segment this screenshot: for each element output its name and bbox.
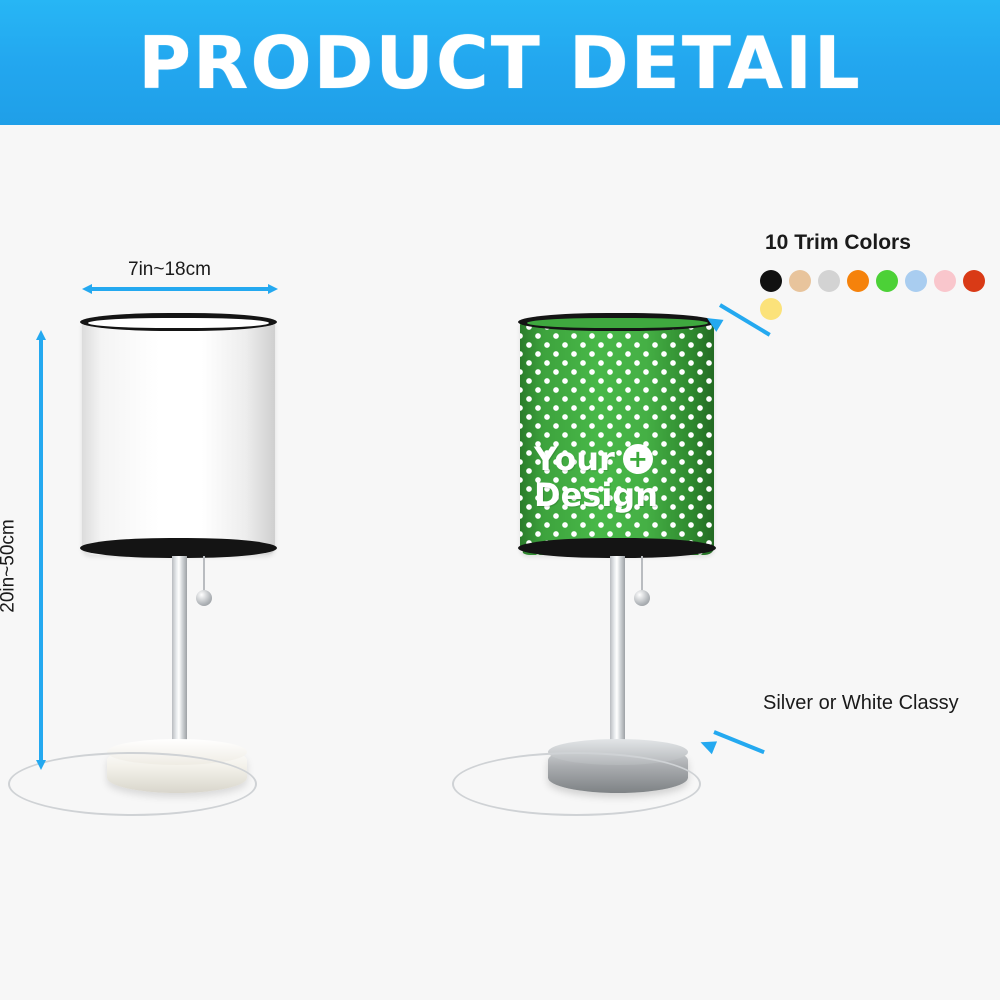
design-text-line1: Your xyxy=(534,443,615,475)
design-text-line2: Design xyxy=(534,479,704,511)
design-text-block: Your + Design xyxy=(534,443,704,511)
lamp-shade-white xyxy=(82,318,275,555)
lamp-shade-green: Your + Design xyxy=(520,318,714,555)
trim-swatch-light-gray[interactable] xyxy=(818,270,840,292)
trim-swatch-green[interactable] xyxy=(876,270,898,292)
pull-chain-bead xyxy=(196,590,212,606)
lamp-shade-bottom-trim xyxy=(518,538,716,558)
base-material-label: Silver or White Classy xyxy=(763,692,959,715)
trim-swatch-orange[interactable] xyxy=(847,270,869,292)
trim-color-swatches xyxy=(760,270,1000,320)
width-label: 7in~18cm xyxy=(128,259,211,281)
lamp-shade-top-inner xyxy=(527,318,708,328)
design-plus-badge: + xyxy=(623,444,653,474)
pull-chain-bead xyxy=(634,590,650,606)
trim-swatch-light-blue[interactable] xyxy=(905,270,927,292)
green-design-lamp: Your + Design xyxy=(500,0,1000,1000)
lamp-pole xyxy=(610,556,625,756)
base-callout-arrow xyxy=(700,726,760,758)
lamp-shade-top-inner xyxy=(88,318,269,328)
trim-colors-arrow xyxy=(706,297,766,331)
pull-chain-cord xyxy=(203,556,205,594)
trim-swatch-tan[interactable] xyxy=(789,270,811,292)
trim-swatch-pink[interactable] xyxy=(934,270,956,292)
trim-swatch-red[interactable] xyxy=(963,270,985,292)
width-dimension-arrow xyxy=(82,284,278,294)
height-dimension-arrow xyxy=(36,330,46,770)
white-blank-lamp xyxy=(0,0,500,1000)
lamp-shade-bottom-trim xyxy=(80,538,277,558)
height-label: 20in~50cm xyxy=(0,519,20,612)
power-cord xyxy=(452,752,701,816)
trim-colors-label: 10 Trim Colors xyxy=(765,231,911,255)
trim-swatch-black[interactable] xyxy=(760,270,782,292)
pull-chain-cord xyxy=(641,556,643,594)
